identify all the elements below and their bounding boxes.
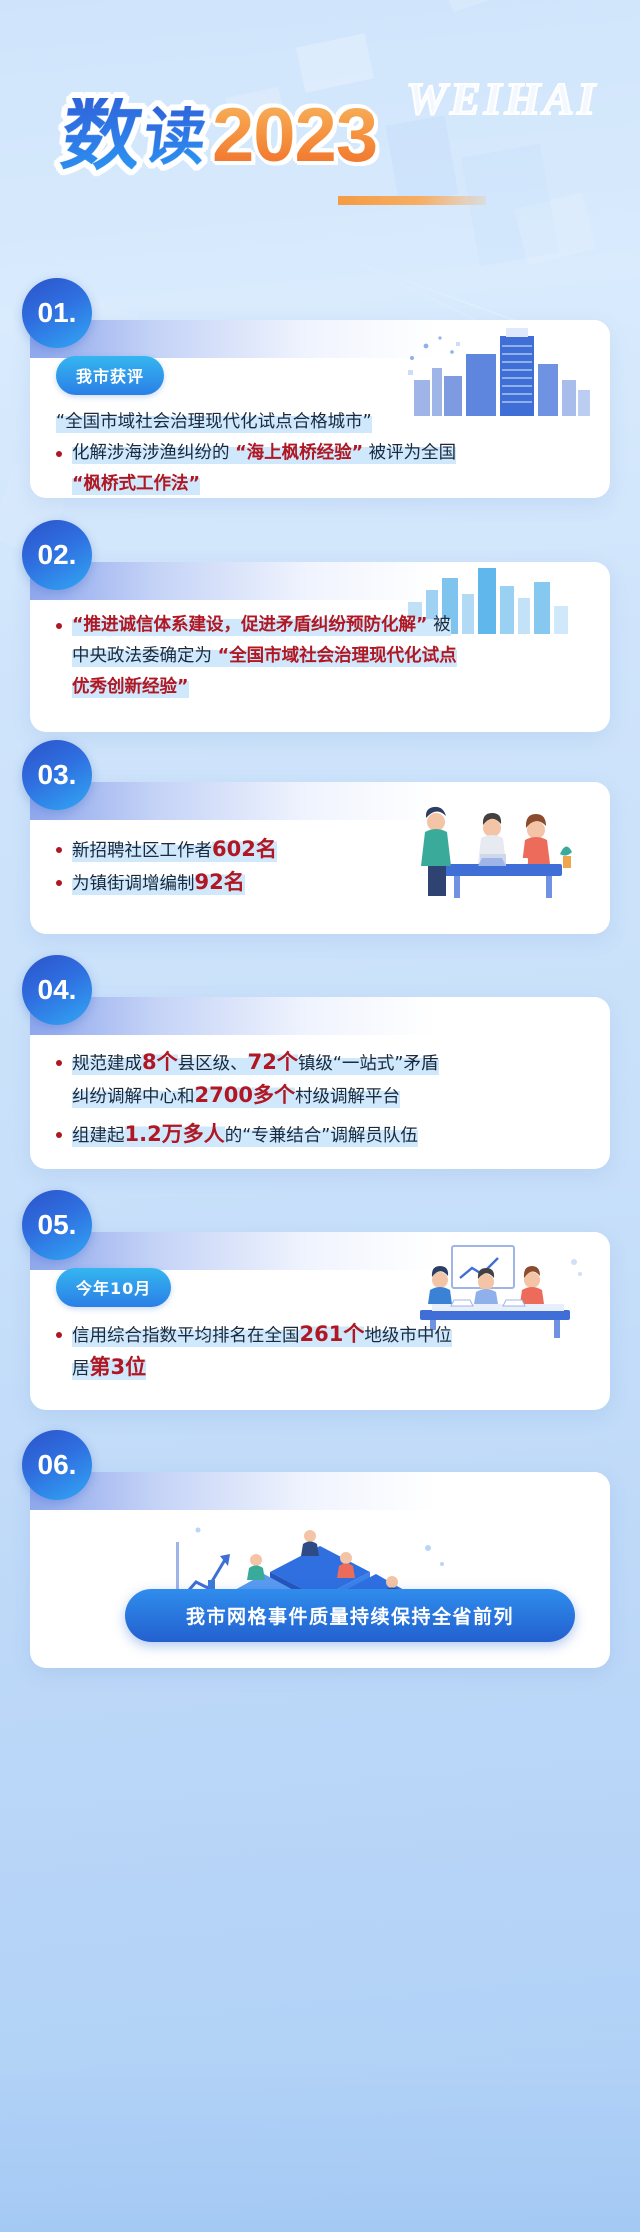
section-card-body: 新招聘社区工作者602名 为镇街调增编制92名 <box>30 782 610 922</box>
section-pill-wrap: 今年10月 <box>56 1268 584 1307</box>
section-card: 规范建成8个县区级、72个镇级“一站式”矛盾 纠纷调解中心和2700多个村级调解… <box>30 997 610 1169</box>
section-card: 我市网格事件质量持续保持全省前列 <box>30 1472 610 1668</box>
section-card-body: “推进诚信体系建设，促进矛盾纠纷预防化解” 被 中央政法委确定为 “全国市域社会… <box>30 562 610 725</box>
content-line: 规范建成8个县区级、72个镇级“一站式”矛盾 <box>70 1047 584 1080</box>
content-line: 新招聘社区工作者602名 <box>70 834 584 867</box>
content-line: 组建起1.2万多人的“专兼结合”调解员队伍 <box>70 1119 584 1152</box>
content-line: 纠纷调解中心和2700多个村级调解平台 <box>72 1080 584 1113</box>
page-header: WEIHAI 数 读 2023 <box>0 0 640 275</box>
title-underline <box>338 196 486 205</box>
section-number-badge: 04. <box>22 955 92 1025</box>
content-line: 优秀创新经验” <box>72 672 584 703</box>
title-char-du: 读 <box>140 106 210 168</box>
section-card-body: 规范建成8个县区级、72个镇级“一站式”矛盾 纠纷调解中心和2700多个村级调解… <box>30 997 610 1169</box>
content-line: “枫桥式工作法” <box>72 469 584 498</box>
section-number-badge: 05. <box>22 1190 92 1260</box>
weihai-wordmark: WEIHAI <box>406 72 598 125</box>
title-char-shu: 数 <box>57 98 144 172</box>
section-number-badge: 01. <box>22 278 92 348</box>
content-line: 为镇街调增编制92名 <box>70 867 584 900</box>
section-pill-wrap: 我市获评 <box>56 356 584 395</box>
section-06: 06. <box>0 1430 640 1670</box>
page-title: 数 读 2023 <box>62 98 377 172</box>
section-number-badge: 03. <box>22 740 92 810</box>
content-line: “推进诚信体系建设，促进矛盾纠纷预防化解” 被 <box>70 610 584 641</box>
section-number-badge: 02. <box>22 520 92 590</box>
section-card: 我市获评 “全国市域社会治理现代化试点合格城市” 化解涉海涉渔纠纷的 “海上枫桥… <box>30 320 610 498</box>
content-line: 中央政法委确定为 “全国市域社会治理现代化试点 <box>72 641 584 672</box>
section-card: 新招聘社区工作者602名 为镇街调增编制92名 <box>30 782 610 934</box>
highlight-pill: 我市获评 <box>56 356 164 395</box>
highlight-pill: 今年10月 <box>56 1268 171 1307</box>
content-line: 居第3位 <box>72 1352 584 1385</box>
title-year: 2023 <box>212 100 377 171</box>
section-card: 今年10月 信用综合指数平均排名在全国261个地级市中位 居第3位 <box>30 1232 610 1410</box>
section-02: 02. “推进诚信体系建设，促进矛盾纠纷预防化解” 被 中央政法委确定为 “全国… <box>0 520 640 735</box>
section-card: “推进诚信体系建设，促进矛盾纠纷预防化解” 被 中央政法委确定为 “全国市域社会… <box>30 562 610 732</box>
background-bottom-glow <box>0 1812 640 2232</box>
section-03: 03. <box>0 740 640 940</box>
section-card-body: 我市获评 “全国市域社会治理现代化试点合格城市” 化解涉海涉渔纠纷的 “海上枫桥… <box>30 320 610 498</box>
section-05: 05. <box>0 1190 640 1412</box>
section-04: 04. 规范建成8个县区级、72个镇级“一站式”矛盾 纠纷调解中心和2700多个… <box>0 955 640 1173</box>
bottom-banner: 我市网格事件质量持续保持全省前列 <box>125 1589 575 1642</box>
section-number-badge: 06. <box>22 1430 92 1500</box>
content-line: “全国市域社会治理现代化试点合格城市” <box>56 407 584 438</box>
section-card-body: 今年10月 信用综合指数平均排名在全国261个地级市中位 居第3位 <box>30 1232 610 1407</box>
content-line: 化解涉海涉渔纠纷的 “海上枫桥经验” 被评为全国 <box>70 438 584 469</box>
content-line: 信用综合指数平均排名在全国261个地级市中位 <box>70 1319 584 1352</box>
section-01: 01. <box>0 278 640 503</box>
